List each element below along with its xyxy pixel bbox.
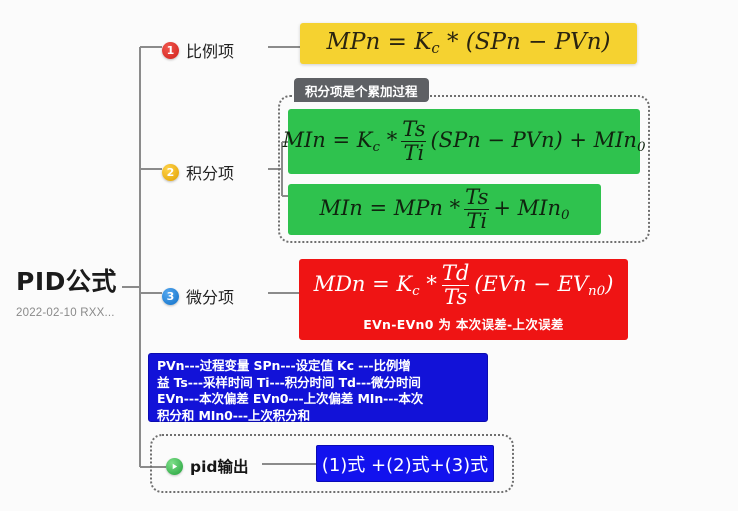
branch-node-derivative[interactable]: 3 微分项 <box>162 284 234 308</box>
legend-line: EVn---本次偏差 EVn0---上次偏差 MIn---本次 <box>157 391 479 408</box>
formula-output-text: (1)式 +(2)式+(3)式 <box>322 451 488 477</box>
mindmap-canvas: PID公式 2022-02-10 RXX... 1 比例项 2 积分项 3 微分… <box>0 0 738 511</box>
branch-label-integral: 积分项 <box>186 160 234 184</box>
formula-box-derivative[interactable]: MDn = Kc *TdTs(EVn − EVn0) EVn-EVn0 为 本次… <box>299 259 628 340</box>
branch-node-integral[interactable]: 2 积分项 <box>162 160 234 184</box>
formula-integral-2-math: MIn = MPn *TsTi+ MIn0 <box>319 187 569 232</box>
formula-box-proportional[interactable]: MPn = Kc * (SPn − PVn) <box>300 23 637 64</box>
legend-line: PVn---过程变量 SPn---设定值 Kc ---比例增 <box>157 358 479 375</box>
legend-line: 益 Ts---采样时间 Ti---积分时间 Td---微分时间 <box>157 375 479 392</box>
branch-label-proportional: 比例项 <box>186 38 234 62</box>
formula-box-integral-2[interactable]: MIn = MPn *TsTi+ MIn0 <box>288 184 601 235</box>
badge-2-icon: 2 <box>162 164 179 181</box>
badge-3-icon: 3 <box>162 288 179 305</box>
formula-box-integral-1[interactable]: MIn = Kc *TsTi(SPn − PVn) + MIn0 <box>288 109 640 174</box>
integral-caption-badge: 积分项是个累加过程 <box>294 78 429 102</box>
derivative-note: EVn-EVn0 为 本次误差-上次误差 <box>363 314 564 333</box>
page-title: PID公式 <box>16 262 117 298</box>
formula-integral-1-math: MIn = Kc *TsTi(SPn − PVn) + MIn0 <box>282 119 645 164</box>
fraction-ts-ti: TsTi <box>400 119 427 164</box>
fraction-td-ts: TdTs <box>440 263 471 308</box>
root-node[interactable]: PID公式 2022-02-10 RXX... <box>16 262 117 319</box>
integral-caption-text: 积分项是个累加过程 <box>305 81 418 100</box>
root-subtitle: 2022-02-10 RXX... <box>16 307 117 319</box>
fraction-ts-ti-2: TsTi <box>463 187 490 232</box>
legend-line: 积分和 MIn0---上次积分和 <box>157 408 479 425</box>
formula-derivative-math: MDn = Kc *TdTs(EVn − EVn0) <box>314 263 614 308</box>
formula-box-output[interactable]: (1)式 +(2)式+(3)式 <box>316 445 494 482</box>
legend-box: PVn---过程变量 SPn---设定值 Kc ---比例增 益 Ts---采样… <box>148 353 488 422</box>
branch-label-derivative: 微分项 <box>186 284 234 308</box>
formula-proportional-math: MPn = Kc * (SPn − PVn) <box>326 31 610 57</box>
branch-node-proportional[interactable]: 1 比例项 <box>162 38 234 62</box>
badge-1-icon: 1 <box>162 42 179 59</box>
